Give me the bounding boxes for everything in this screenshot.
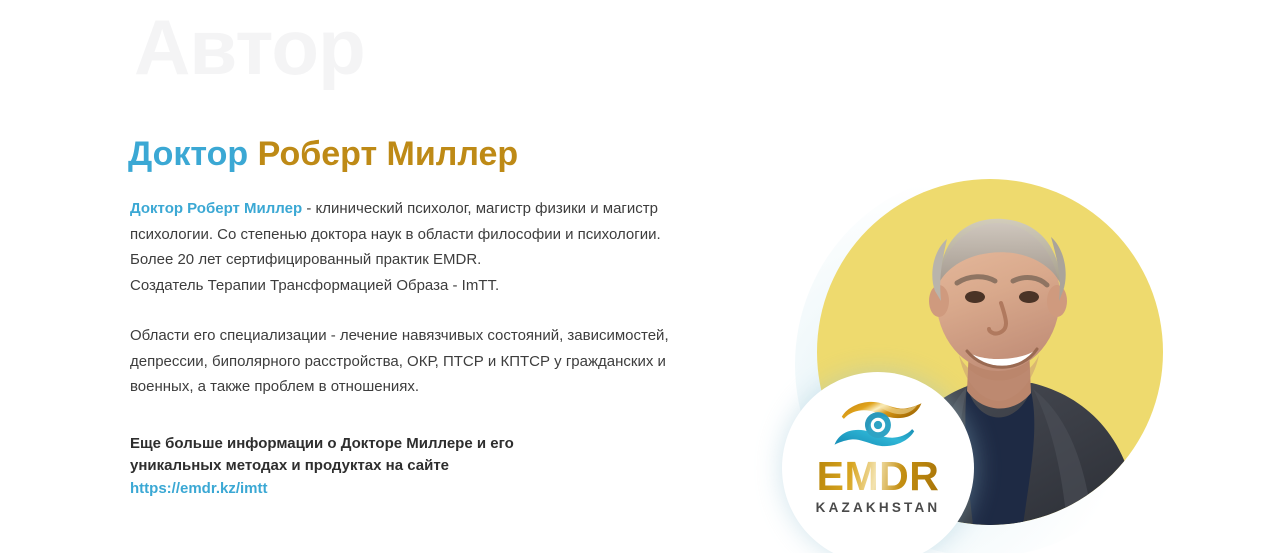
page-title-blue-part: Доктор xyxy=(128,135,248,173)
emdr-subtitle: KAZAKHSTAN xyxy=(816,500,941,515)
bio-paragraph-1-line-4: Создатель Терапии Трансформацией Образа … xyxy=(130,277,499,294)
page-title: Доктор Роберт Миллер xyxy=(128,133,518,176)
author-text-column: Автор Доктор Роберт Миллер Доктор Роберт… xyxy=(128,0,728,553)
cta-line-2: уникальных методах и продуктах на сайте xyxy=(130,457,449,474)
website-link[interactable]: https://emdr.kz/imtt xyxy=(130,478,600,500)
emdr-wordmark: EMDR xyxy=(817,456,940,497)
doctor-name-link[interactable]: Доктор Роберт Миллер xyxy=(130,200,302,217)
cta-block: Еще больше информации о Докторе Миллере … xyxy=(130,433,600,500)
eye-in-hands-icon xyxy=(826,394,930,454)
author-section: Автор Доктор Роберт Миллер Доктор Роберт… xyxy=(0,0,1280,553)
cta-line-1: Еще больше информации о Докторе Миллере … xyxy=(130,435,514,452)
bio-text: Доктор Роберт Миллер - клинический психо… xyxy=(130,196,678,400)
bio-paragraph-2: Области его специализации - лечение навя… xyxy=(130,323,678,400)
emdr-logo-badge[interactable]: EMDR KAZAKHSTAN xyxy=(782,372,974,553)
author-portrait-column: EMDR KAZAKHSTAN xyxy=(795,172,1175,553)
watermark-heading: Автор xyxy=(134,8,365,86)
page-title-gold-part: Роберт Миллер xyxy=(258,135,519,173)
bio-paragraph-1: Доктор Роберт Миллер - клинический психо… xyxy=(130,196,678,298)
